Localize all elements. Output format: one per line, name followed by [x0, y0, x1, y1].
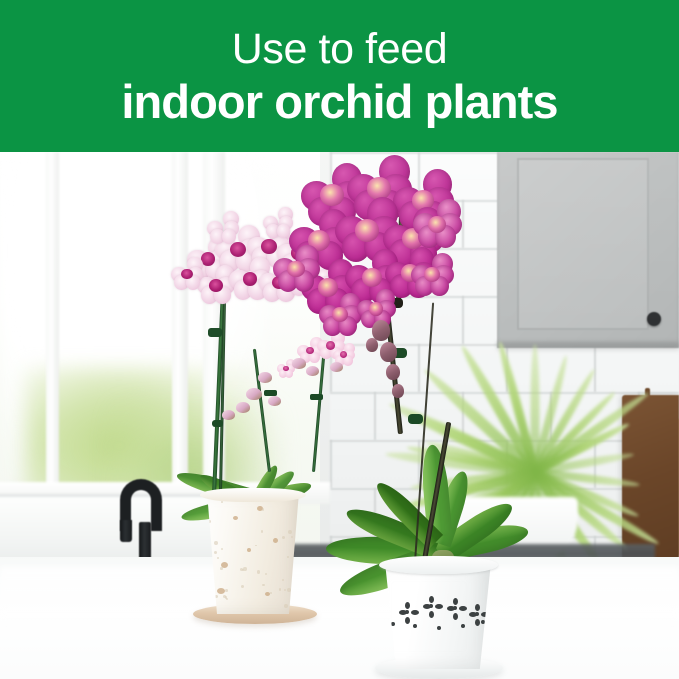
pot-drain-hole [413, 624, 417, 628]
pot-drain-hole [453, 606, 457, 610]
orchid-lip [355, 219, 379, 241]
orchid-lip [369, 302, 383, 316]
right-pot-rim [379, 556, 498, 574]
pot-drain-hole [429, 596, 434, 603]
pot-drain-hole [429, 611, 434, 618]
headline-text-block: Use to feed indoor orchid plants [0, 0, 679, 152]
orchid-lip [362, 268, 382, 287]
orchid-clip [408, 414, 423, 424]
orchid-bloom [410, 252, 454, 296]
orchid-bud [380, 342, 397, 362]
pot-drain-hole [411, 610, 419, 615]
orchid-bud [366, 338, 378, 352]
pot-drain-hole [475, 619, 480, 626]
headline-banner: Use to feed indoor orchid plants [0, 0, 679, 152]
orchid-bud [392, 384, 404, 398]
pot-drain-hole [437, 626, 441, 630]
pot-drain-hole [481, 620, 485, 624]
right-orchid-plant [0, 152, 679, 679]
orchid-lip [428, 216, 446, 233]
headline-line-2: indoor orchid plants [121, 75, 557, 129]
pot-drain-hole [475, 604, 480, 611]
lifestyle-photo [0, 152, 679, 679]
pot-drain-hole [405, 602, 410, 609]
pot-drain-hole [475, 612, 479, 616]
pot-drain-hole [453, 598, 458, 605]
orchid-bloom [272, 244, 320, 292]
orchid-bloom [318, 292, 362, 336]
right-pot [383, 564, 493, 669]
pot-drain-hole [461, 624, 465, 628]
pot-drain-hole [459, 606, 467, 611]
orchid-bud [386, 364, 400, 380]
orchid-bloom [412, 198, 462, 248]
pot-drain-hole [435, 604, 443, 609]
orchid-bud [372, 320, 390, 341]
pot-drain-hole [405, 610, 409, 614]
pot-drain-hole [405, 617, 410, 624]
pot-drain-hole [429, 604, 433, 608]
headline-line-1: Use to feed [232, 24, 448, 74]
orchid-lip [320, 184, 343, 206]
pot-drain-hole [453, 613, 458, 620]
product-image: Use to feed indoor orchid plants [0, 0, 679, 679]
orchid-lip [287, 261, 304, 277]
